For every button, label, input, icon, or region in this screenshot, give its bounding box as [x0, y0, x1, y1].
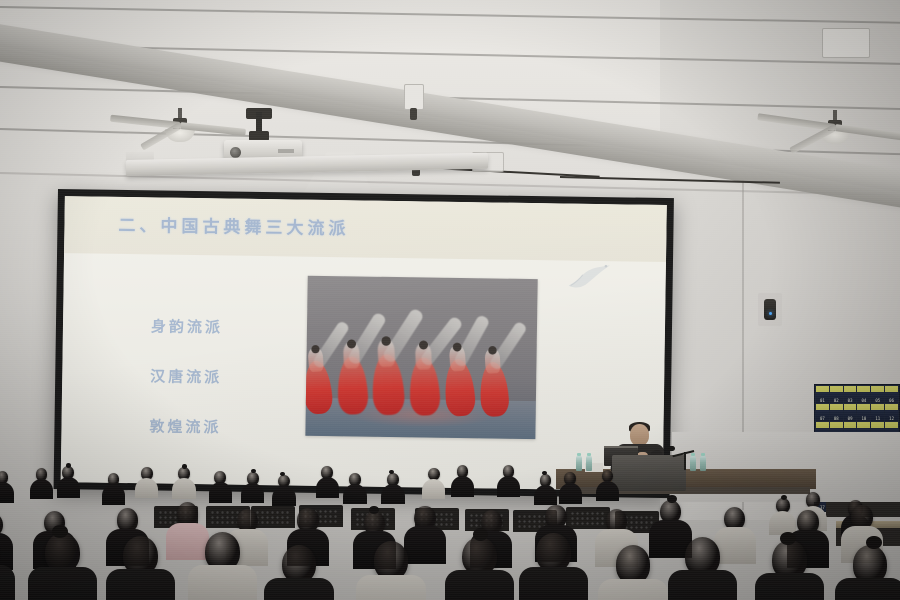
audience-shoulders [106, 569, 175, 600]
audience-shoulders [598, 579, 667, 600]
lecture-hall-photo: 二、中国古典舞三大流派 身韵流派 汉唐流派 敦煌流派 [0, 0, 900, 600]
audience-shoulders [0, 565, 15, 600]
audience-shoulders [445, 570, 514, 600]
audience-hair-bun [780, 532, 795, 545]
audience-shoulders [264, 578, 333, 600]
audience-shoulders [519, 567, 588, 600]
audience-row-front [0, 0, 900, 600]
audience-shoulders [835, 578, 900, 600]
audience-shoulders [755, 573, 824, 600]
audience-hair-bun [52, 525, 67, 538]
audience-shoulders [356, 575, 425, 600]
audience-shoulders [668, 570, 737, 600]
audience-shoulders [28, 567, 97, 600]
audience-shoulders [188, 565, 257, 600]
